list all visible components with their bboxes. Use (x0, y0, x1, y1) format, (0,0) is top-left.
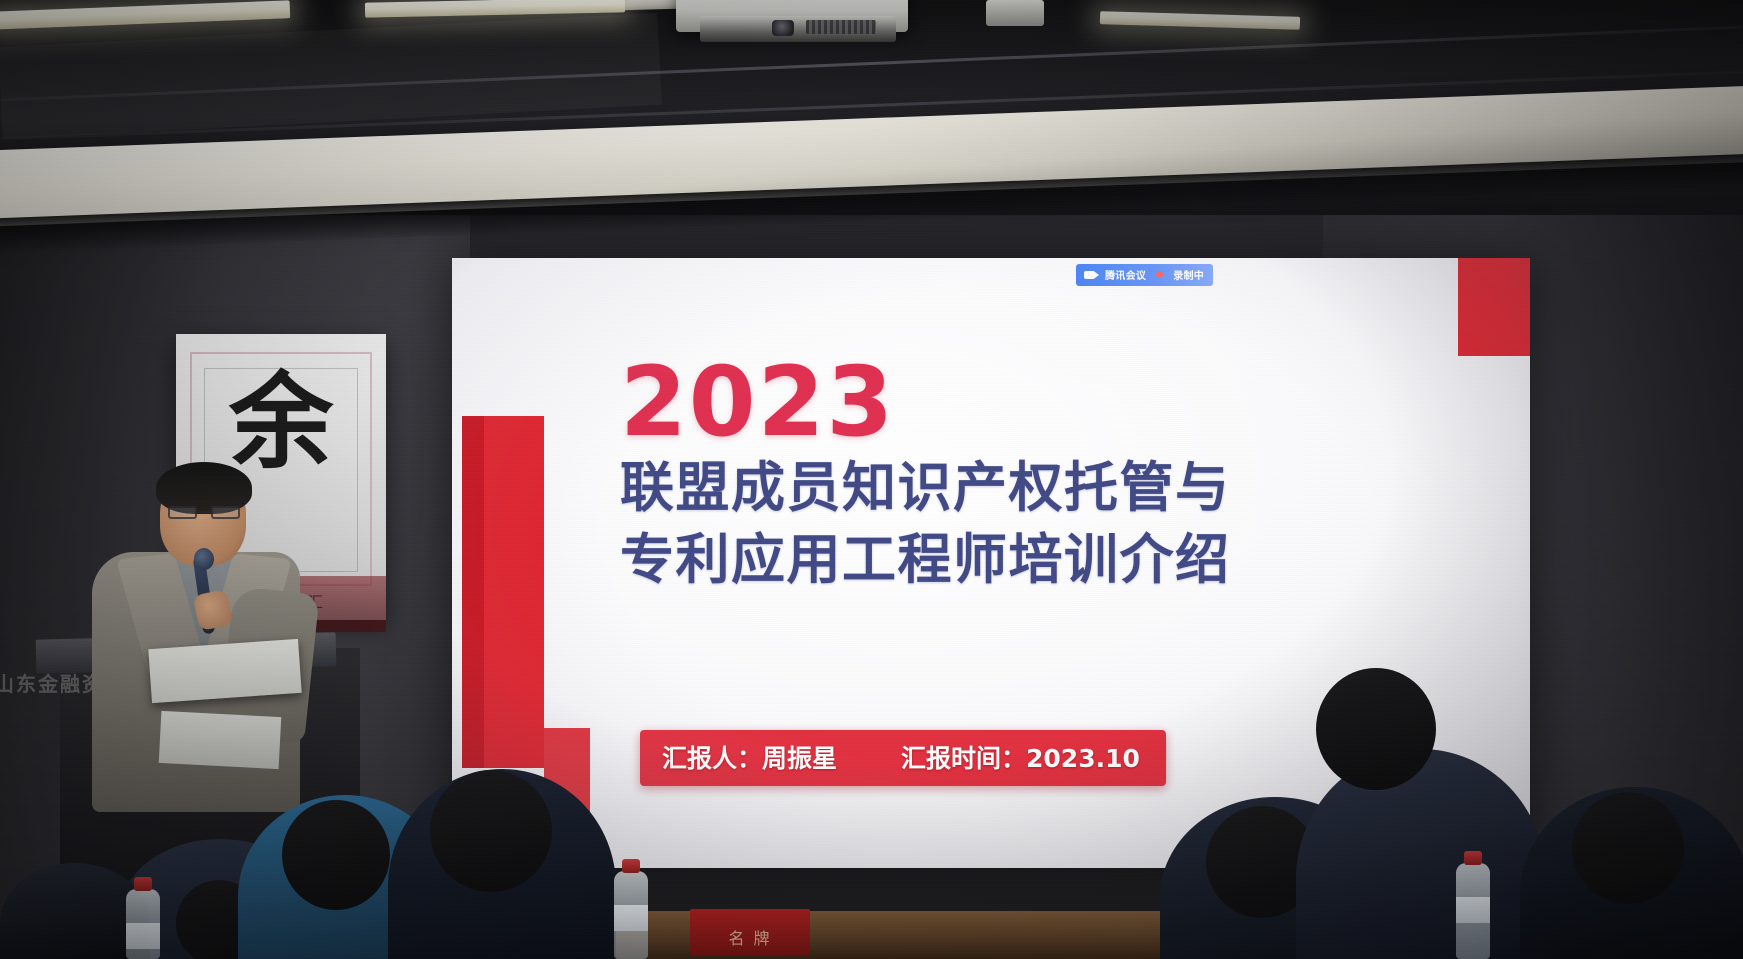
bottle-label (614, 905, 648, 931)
podium-papers (148, 639, 301, 703)
meeting-app-label: 腾讯会议 (1105, 267, 1146, 282)
slide-decoration-left-bar-inner (462, 416, 484, 768)
slide-presenter-label: 汇报人：周振星 (662, 739, 837, 775)
bottle-cap (622, 859, 640, 873)
slide-date-label: 汇报时间：2023.10 (901, 739, 1140, 775)
bottle-cap (134, 877, 152, 891)
slide-decoration-top-right (1458, 258, 1530, 356)
projector-vent (806, 20, 876, 34)
audience-head (1572, 792, 1684, 904)
bottle-label (1456, 897, 1490, 923)
glasses-lens-right (211, 506, 240, 519)
slide-year: 2023 (620, 354, 1500, 452)
meeting-recording-badge[interactable]: 腾讯会议 录制中 (1076, 264, 1213, 286)
water-bottle (126, 889, 160, 959)
ceiling-speaker-grill (986, 0, 1044, 26)
slide-content: 2023 联盟成员知识产权托管与 专利应用工程师培训介绍 (620, 354, 1500, 597)
conference-room-photo: 余 类别同心汇 心 汇 2023 联盟成员知识产权托管与 专利应用工程师培训介绍… (0, 0, 1743, 959)
audience-head (1316, 668, 1436, 790)
camera-icon (1084, 271, 1095, 279)
bottle-label (126, 923, 160, 949)
audience-head (430, 770, 552, 892)
audience-head (282, 800, 390, 910)
water-bottle (614, 871, 648, 959)
glasses-bridge (197, 511, 211, 513)
podium-papers (159, 711, 282, 769)
speaker-glasses (168, 506, 240, 519)
water-bottle (1456, 863, 1490, 959)
meeting-status-label: 录制中 (1173, 267, 1204, 282)
slide-meta-banner: 汇报人：周振星 汇报时间：2023.10 (640, 730, 1166, 786)
calligraphy-glyph: 余 (176, 370, 386, 474)
bottle-cap (1464, 851, 1482, 865)
slide-title-line-1: 联盟成员知识产权托管与 (620, 452, 1500, 524)
recording-dot-icon (1156, 271, 1163, 278)
glasses-lens-left (168, 506, 197, 519)
table-name-plate-text: 名 牌 (690, 925, 810, 949)
projector-lens-icon (772, 20, 794, 36)
slide-title-line-2: 专利应用工程师培训介绍 (620, 524, 1500, 596)
